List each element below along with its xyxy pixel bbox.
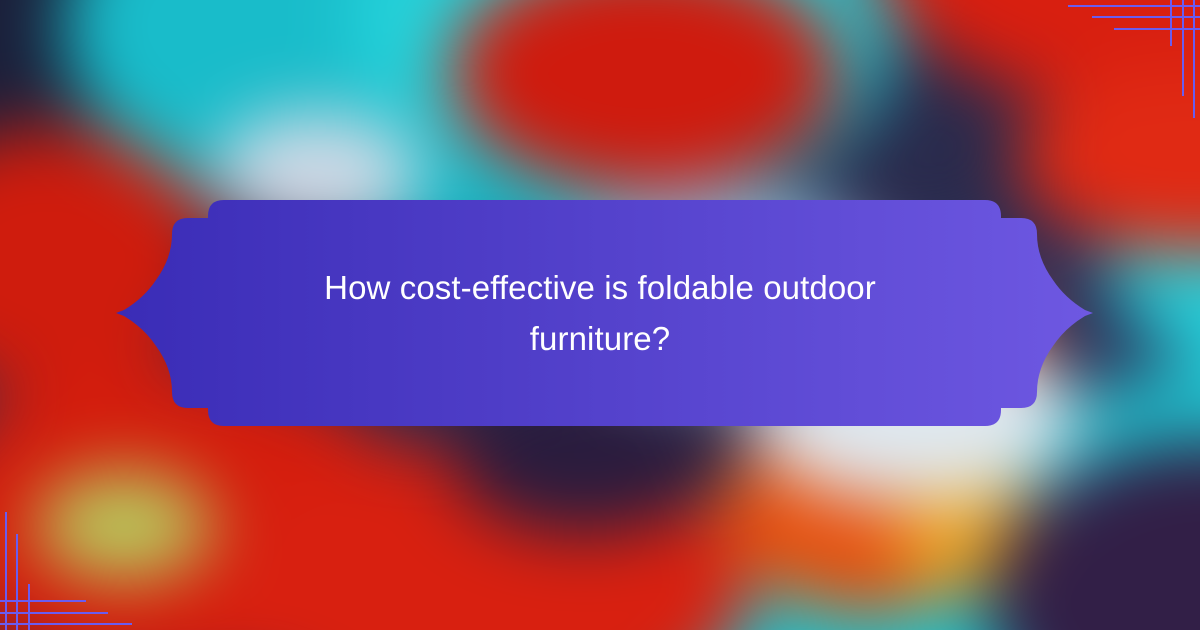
bg-blob-yellowgreen xyxy=(35,471,214,580)
quote-card: How cost-effective is foldable outdoor f… xyxy=(105,198,1095,428)
quote-card-text-container: How cost-effective is foldable outdoor f… xyxy=(105,198,1095,428)
quote-question: How cost-effective is foldable outdoor f… xyxy=(255,262,945,364)
og-image-canvas: How cost-effective is foldable outdoor f… xyxy=(0,0,1200,630)
